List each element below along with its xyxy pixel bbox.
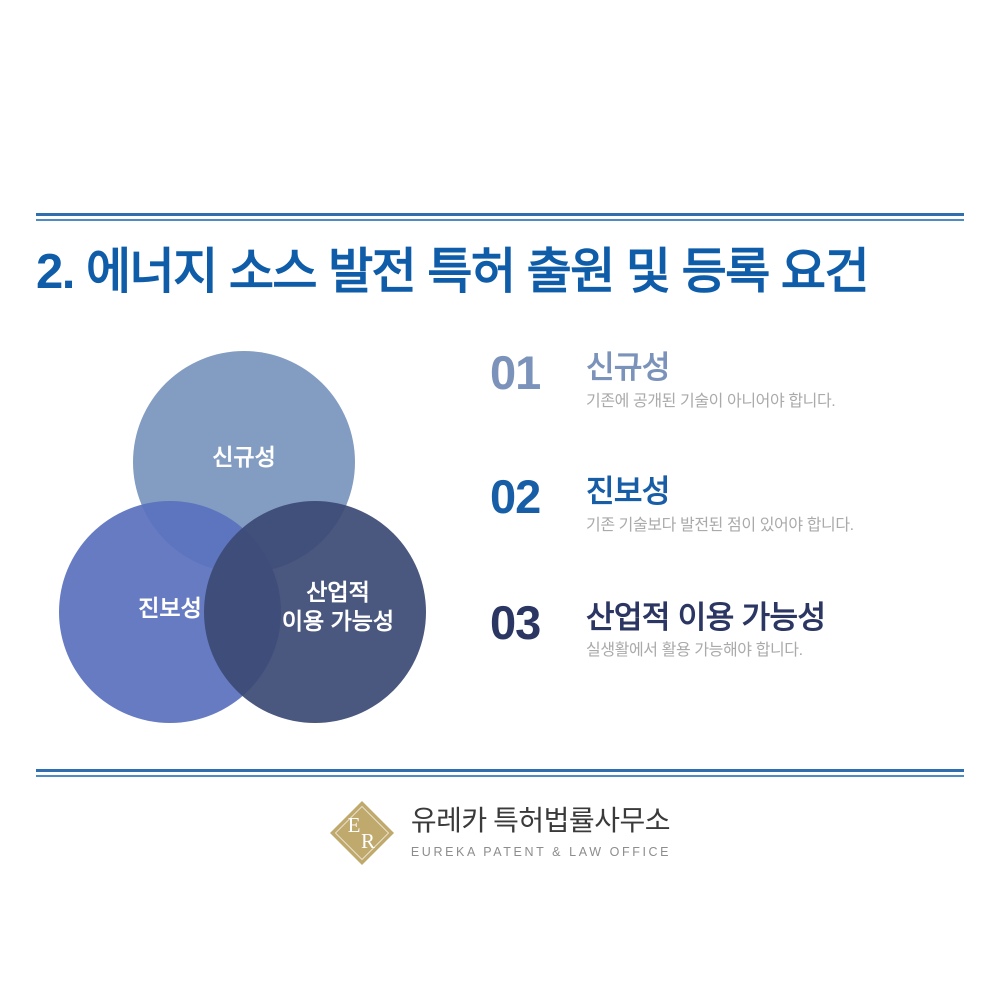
requirement-item-3: 03 산업적 이용 가능성 실생활에서 활용 가능해야 합니다. xyxy=(490,598,970,664)
slide-canvas: 2. 에너지 소스 발전 특허 출원 및 등록 요건 신규성 진보성 산업적 이… xyxy=(0,0,1000,1000)
diamond-monogram-svg: E R xyxy=(329,800,395,866)
requirement-desc-1: 기존에 공개된 기술이 아니어야 합니다. xyxy=(586,390,970,414)
requirement-body-1: 신규성 기존에 공개된 기술이 아니어야 합니다. xyxy=(586,348,970,414)
venn-svg xyxy=(45,350,445,750)
divider-rule-thick xyxy=(36,213,964,216)
top-divider xyxy=(36,213,964,222)
requirement-number-2: 02 xyxy=(490,472,586,521)
requirement-title-2: 진보성 xyxy=(586,473,970,511)
requirement-desc-2: 기존 기술보다 발전된 점이 있어야 합니다. xyxy=(586,514,970,538)
divider-rule-thin xyxy=(36,775,964,777)
requirement-desc-3: 실생활에서 활용 가능해야 합니다. xyxy=(586,639,970,663)
requirement-title-3: 산업적 이용 가능성 xyxy=(586,599,970,637)
diamond-monogram-icon: E R xyxy=(329,800,395,866)
bottom-divider xyxy=(36,769,964,778)
venn-diagram: 신규성 진보성 산업적 이용 가능성 xyxy=(45,350,445,750)
divider-rule-thick xyxy=(36,769,964,772)
firm-name-ko: 유레카 특허법률사무소 xyxy=(411,806,671,838)
requirement-item-2: 02 진보성 기존 기술보다 발전된 점이 있어야 합니다. xyxy=(490,472,970,538)
requirement-body-3: 산업적 이용 가능성 실생활에서 활용 가능해야 합니다. xyxy=(586,598,970,664)
footer-logo: E R 유레카 특허법률사무소 EUREKA PATENT & LAW OFFI… xyxy=(0,800,1000,866)
requirement-body-2: 진보성 기존 기술보다 발전된 점이 있어야 합니다. xyxy=(586,472,970,538)
requirements-list: 01 신규성 기존에 공개된 기술이 아니어야 합니다. 02 진보성 기존 기… xyxy=(490,348,970,663)
monogram-letter-r: R xyxy=(361,829,375,853)
monogram-letter-e: E xyxy=(347,813,360,837)
requirement-number-1: 01 xyxy=(490,348,586,397)
requirement-number-3: 03 xyxy=(490,598,586,647)
footer-logo-text: 유레카 특허법률사무소 EUREKA PATENT & LAW OFFICE xyxy=(411,806,671,859)
requirement-title-1: 신규성 xyxy=(586,349,970,387)
divider-rule-thin xyxy=(36,219,964,221)
requirement-item-1: 01 신규성 기존에 공개된 기술이 아니어야 합니다. xyxy=(490,348,970,414)
venn-circle-industrial-applicability xyxy=(204,501,426,723)
page-title: 2. 에너지 소스 발전 특허 출원 및 등록 요건 xyxy=(36,245,966,300)
firm-name-en: EUREKA PATENT & LAW OFFICE xyxy=(411,845,671,860)
